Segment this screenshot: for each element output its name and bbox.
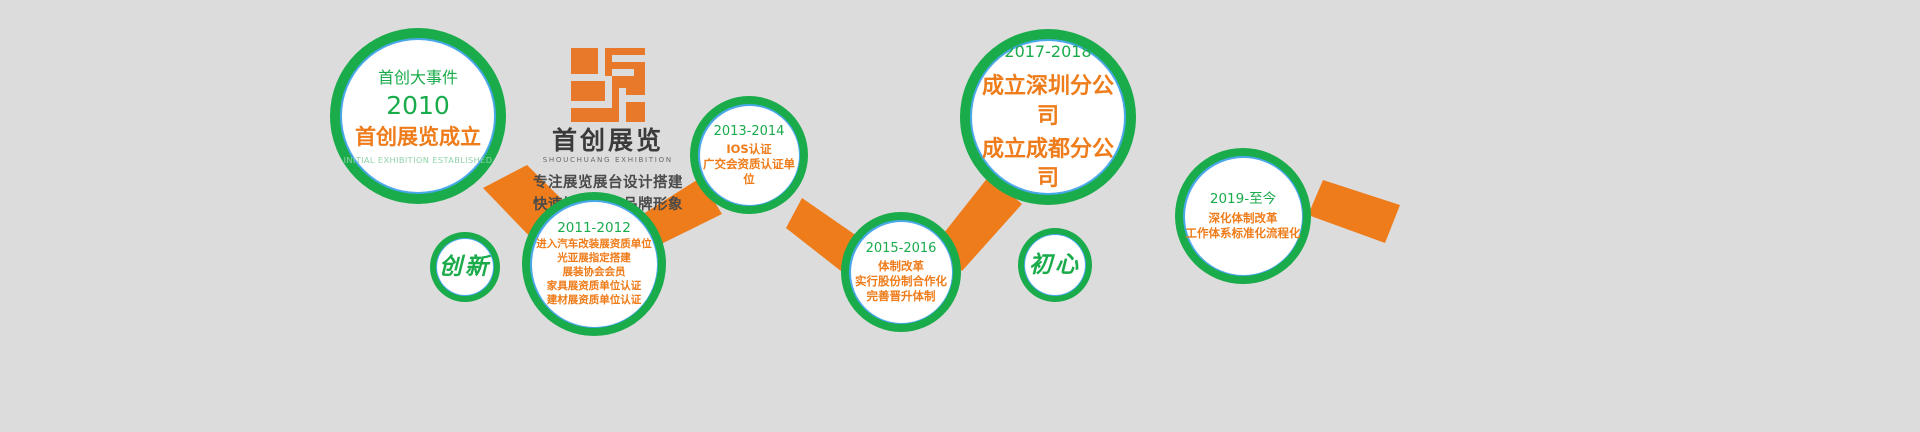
accent-original-aspiration-text: 初心 [1029, 250, 1081, 280]
milestone-2013-2014-year: 2013-2014 [714, 123, 785, 140]
milestone-2011-2012-line-4: 建材展资质单位认证 [547, 294, 642, 308]
brand-logo-block: 首创展览 SHOUCHUANG EXHIBITION 专注展览展台设计搭建 快速… [528, 48, 688, 217]
milestone-2011-2012-line-3: 家具展资质单位认证 [547, 280, 642, 294]
milestone-2015-2016-content: 2015-2016 体制改革 实行股份制合作化 完善晋升体制 [851, 222, 952, 323]
milestone-2011-2012-content: 2011-2012 进入汽车改装展资质单位 光亚展指定搭建 展装协会会员 家具展… [532, 202, 657, 327]
milestone-2011-2012-line-2: 展装协会会员 [563, 266, 626, 280]
milestone-2015-2016-year: 2015-2016 [866, 240, 937, 257]
milestone-2010-kicker: 首创大事件 [378, 67, 458, 88]
milestone-2017-2018-line-1: 成立成都分公司 [972, 135, 1124, 193]
milestone-2015-2016-line-2: 完善晋升体制 [867, 289, 936, 304]
accent-original-aspiration-content: 初心 [1025, 235, 1085, 295]
milestone-2015-2016-line-0: 体制改革 [878, 259, 924, 274]
milestone-2010-headline: 首创展览成立 [355, 124, 481, 152]
accent-innovation-text: 创新 [439, 252, 491, 282]
accent-innovation-content: 创新 [437, 239, 493, 295]
milestone-2019-now-year: 2019-至今 [1210, 191, 1276, 209]
timeline-infographic: 首创大事件 2010 首创展览成立 INITIAL EXHIBITION EST… [0, 0, 1920, 432]
milestone-2015-2016-line-1: 实行股份制合作化 [855, 274, 947, 289]
milestone-2019-now-content: 2019-至今 深化体制改革 工作体系标准化流程化 [1185, 158, 1302, 275]
milestone-2011-2012-year: 2011-2012 [557, 220, 631, 238]
shouchuang-logo-mark-icon [571, 48, 645, 122]
milestone-2010-content: 首创大事件 2010 首创展览成立 INITIAL EXHIBITION EST… [342, 40, 494, 192]
connector-ribbons [0, 0, 1920, 432]
milestone-2013-2014-line-0: IOS认证 [726, 142, 771, 157]
milestone-2010-subtitle: INITIAL EXHIBITION ESTABLISHED [344, 155, 493, 166]
milestone-2013-2014-line-1: 广交会资质认证单位 [700, 157, 799, 187]
milestone-2019-now-line-1: 工作体系标准化流程化 [1186, 226, 1301, 241]
milestone-2017-2018-line-0: 成立深圳分公司 [972, 72, 1124, 130]
milestone-2017-2018-content: 2017-2018 成立深圳分公司 成立成都分公司 [972, 41, 1124, 193]
milestone-2013-2014-content: 2013-2014 IOS认证 广交会资质认证单位 [700, 106, 799, 205]
brand-name-en: SHOUCHUANG EXHIBITION [543, 156, 673, 164]
milestone-2019-now-line-0: 深化体制改革 [1209, 211, 1278, 226]
brand-name-cn: 首创展览 [552, 128, 664, 153]
milestone-2010-year: 2010 [386, 89, 450, 122]
milestone-2011-2012-line-1: 光亚展指定搭建 [557, 252, 631, 266]
milestone-2017-2018-year: 2017-2018 [1004, 41, 1091, 62]
milestone-2011-2012-line-0: 进入汽车改装展资质单位 [536, 238, 652, 252]
brand-tagline-line1: 专注展览展台设计搭建 [533, 173, 683, 195]
